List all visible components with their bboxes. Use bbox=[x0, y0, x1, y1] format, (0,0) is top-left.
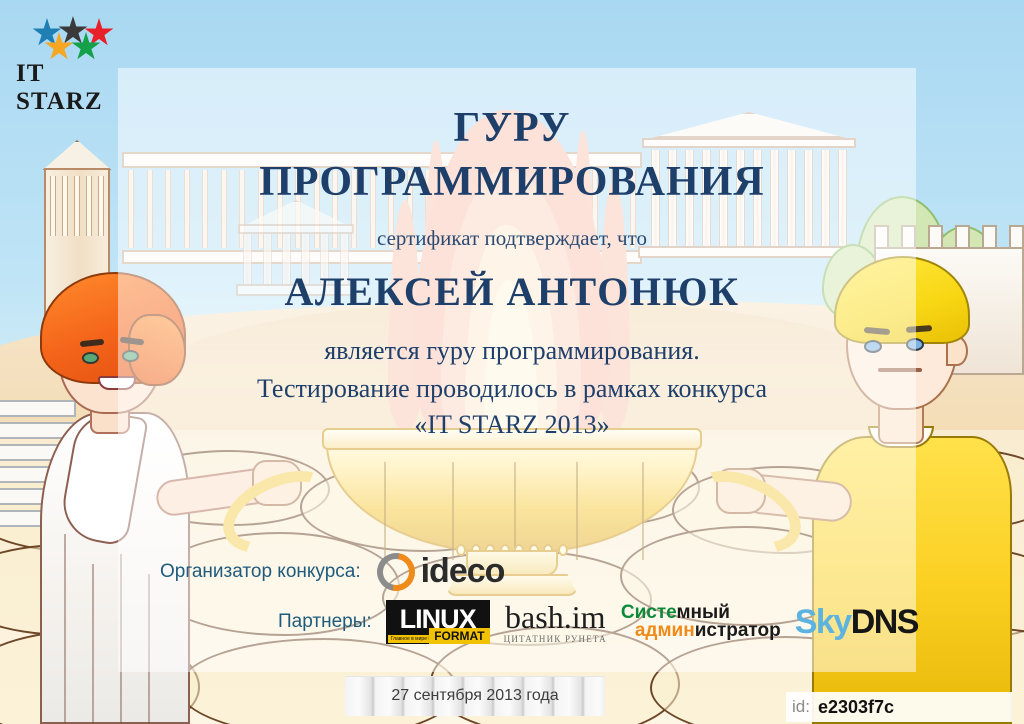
partner-logo-skydns: SkyDNS bbox=[795, 603, 918, 642]
certificate-title-line-2: ПРОГРАММИРОВАНИЯ bbox=[0, 158, 1024, 206]
linux-format-subword: FORMAT bbox=[429, 628, 489, 644]
certificate-id-label: id: bbox=[792, 697, 810, 717]
ideco-wordmark: ideco bbox=[421, 552, 505, 591]
organizer-row: Организатор конкурса: ideco bbox=[160, 552, 504, 591]
partner-logo-sysadmin: Системный администратор bbox=[621, 604, 781, 640]
bashim-wordmark: bash.im bbox=[504, 601, 607, 633]
bashim-tagline: ЦИТАТНИК РУНЕТА bbox=[504, 634, 607, 644]
issue-date: 27 сентября 2013 года bbox=[345, 676, 605, 716]
partner-logo-bashim: bash.im ЦИТАТНИК РУНЕТА bbox=[504, 601, 607, 644]
certificate-subtitle: сертификат подтверждает, что bbox=[0, 226, 1024, 251]
certificate-body-line-2: Тестирование проводилось в рамках конкур… bbox=[0, 374, 1024, 404]
recipient-name: АЛЕКСЕЙ АНТОНЮК bbox=[0, 268, 1024, 315]
skydns-word-dns: DNS bbox=[851, 603, 918, 641]
certificate-id-badge: id: e2303f7c bbox=[786, 692, 1012, 722]
ideco-swoosh-icon bbox=[377, 553, 415, 591]
sysadmin-word-part-4: истратор bbox=[695, 620, 781, 641]
skydns-word-sky: Sky bbox=[795, 603, 851, 641]
organizer-label: Организатор конкурса: bbox=[160, 561, 361, 583]
certificate-title-line-1: ГУРУ bbox=[0, 104, 1024, 152]
certificate-canvas: IT STARZ ГУРУ ПРОГРАММИРОВАНИЯ сертифика… bbox=[0, 0, 1024, 724]
partners-row: Партнеры: LINUX Главное в мире Linux FOR… bbox=[278, 600, 918, 644]
certificate-id-value: e2303f7c bbox=[818, 697, 894, 718]
certificate-body-line-3: «IT STARZ 2013» bbox=[0, 410, 1024, 440]
partners-label: Партнеры: bbox=[278, 611, 372, 633]
certificate-body-line-1: является гуру программирования. bbox=[0, 336, 1024, 366]
ideco-logo: ideco bbox=[377, 552, 505, 591]
sysadmin-word-part-3: админ bbox=[635, 620, 695, 641]
partner-logo-linux-format: LINUX Главное в мире Linux FORMAT bbox=[386, 600, 490, 644]
